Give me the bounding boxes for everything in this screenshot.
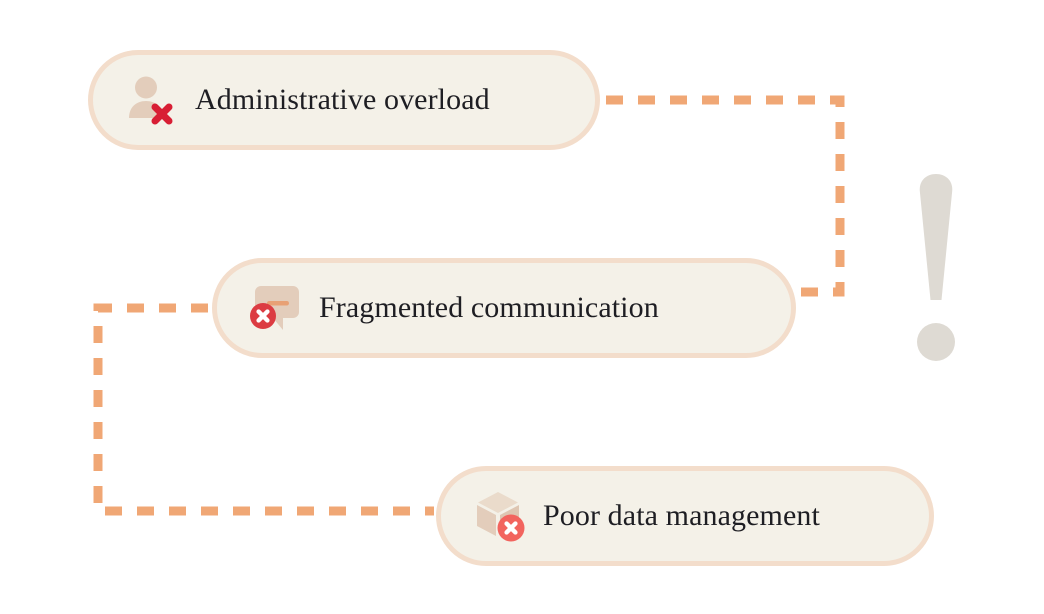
exclamation-mark bbox=[908, 172, 964, 362]
exclamation-stem bbox=[920, 174, 953, 300]
cube-x-icon bbox=[473, 490, 525, 542]
pill-fragmented-communication[interactable]: Fragmented communication bbox=[212, 258, 796, 358]
diagram-canvas: Administrative overload Fragmented commu… bbox=[0, 0, 1044, 614]
person-x-icon bbox=[125, 74, 177, 126]
pill-administrative-overload[interactable]: Administrative overload bbox=[88, 50, 600, 150]
pill-label: Administrative overload bbox=[195, 85, 490, 115]
pill-label: Poor data management bbox=[543, 501, 820, 531]
speech-bubble-x-icon bbox=[249, 282, 301, 334]
exclamation-dot bbox=[917, 323, 955, 361]
pill-poor-data-management[interactable]: Poor data management bbox=[436, 466, 934, 566]
pill-label: Fragmented communication bbox=[319, 293, 659, 323]
